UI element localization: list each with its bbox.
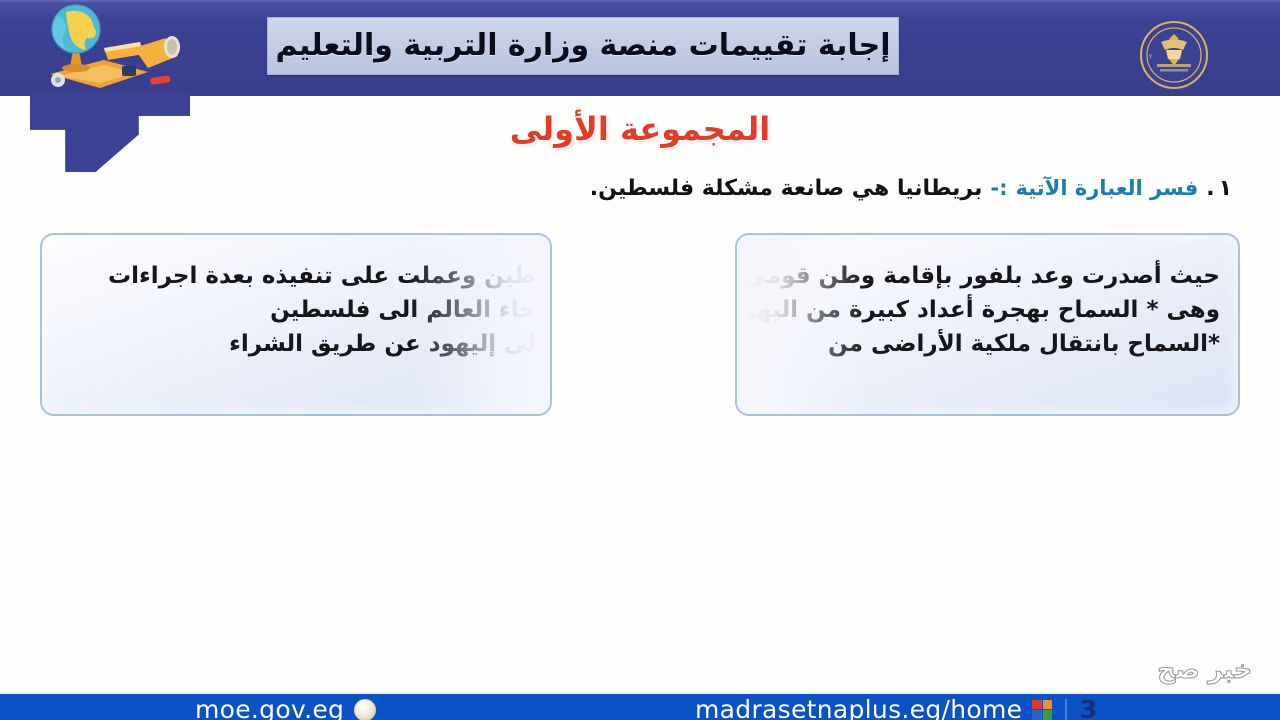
moe-badge-icon bbox=[354, 699, 376, 720]
answer-line: طين وعملت على تنفيذه بعدة اجراءات bbox=[108, 259, 536, 293]
answer-panel-right: حيث أصدرت وعد بلفور بإقامة وطن قومي وهى … bbox=[735, 233, 1240, 416]
answer-line: *السماح بانتقال ملكية الأراضى من bbox=[735, 327, 1220, 361]
colored-grid-icon bbox=[1032, 700, 1052, 720]
answer-text-right: حيث أصدرت وعد بلفور بإقامة وطن قومي وهى … bbox=[735, 259, 1220, 361]
answer-line: حاء العالم الى فلسطين bbox=[108, 293, 536, 327]
question-line: ١ . فسر العبارة الآتية :- بريطانيا هي صا… bbox=[572, 176, 1232, 201]
slide-canvas: إجابة تقييمات منصة وزارة التربية والتعلي… bbox=[0, 0, 1280, 720]
globe-and-school-supplies-illustration bbox=[8, 2, 193, 98]
question-number-dot: . bbox=[1206, 176, 1214, 201]
footer-left-group[interactable]: moe.gov.eg bbox=[195, 695, 376, 720]
page-number: 3 bbox=[1080, 695, 1097, 720]
answer-line: حيث أصدرت وعد بلفور بإقامة وطن قومي bbox=[735, 259, 1220, 293]
question-separator: :- bbox=[990, 176, 1007, 200]
question-statement: بريطانيا هي صانعة مشكلة فلسطين. bbox=[590, 176, 983, 201]
watermark: خبر صح bbox=[1157, 655, 1252, 684]
question-number: ١ bbox=[1219, 176, 1232, 201]
footer-right-group[interactable]: 3 | madrasetnaplus.eg/home bbox=[695, 695, 1101, 720]
question-keyword: فسر العبارة الآتية bbox=[1015, 176, 1198, 200]
divider: | bbox=[1062, 697, 1069, 720]
page-title: إجابة تقييمات منصة وزارة التربية والتعلي… bbox=[275, 31, 890, 61]
answer-line: لى إليهود عن طريق الشراء bbox=[108, 327, 536, 361]
answer-text-left: طين وعملت على تنفيذه بعدة اجراءات حاء ال… bbox=[108, 259, 536, 361]
answer-panel-left: طين وعملت على تنفيذه بعدة اجراءات حاء ال… bbox=[40, 233, 552, 416]
presentation-title-plaque: إجابة تقييمات منصة وزارة التربية والتعلي… bbox=[267, 17, 899, 75]
madrasetna-website-url[interactable]: madrasetnaplus.eg/home bbox=[695, 695, 1022, 720]
egypt-ministry-of-education-seal-icon: MINISTRY OF EDUCATION AND TECH bbox=[1139, 20, 1209, 90]
moe-website-url[interactable]: moe.gov.eg bbox=[195, 695, 344, 720]
answer-line: وهى * السماح بهجرة أعداد كبيرة من اليهود bbox=[735, 293, 1220, 327]
group-title: المجموعة الأولى bbox=[0, 110, 1280, 148]
